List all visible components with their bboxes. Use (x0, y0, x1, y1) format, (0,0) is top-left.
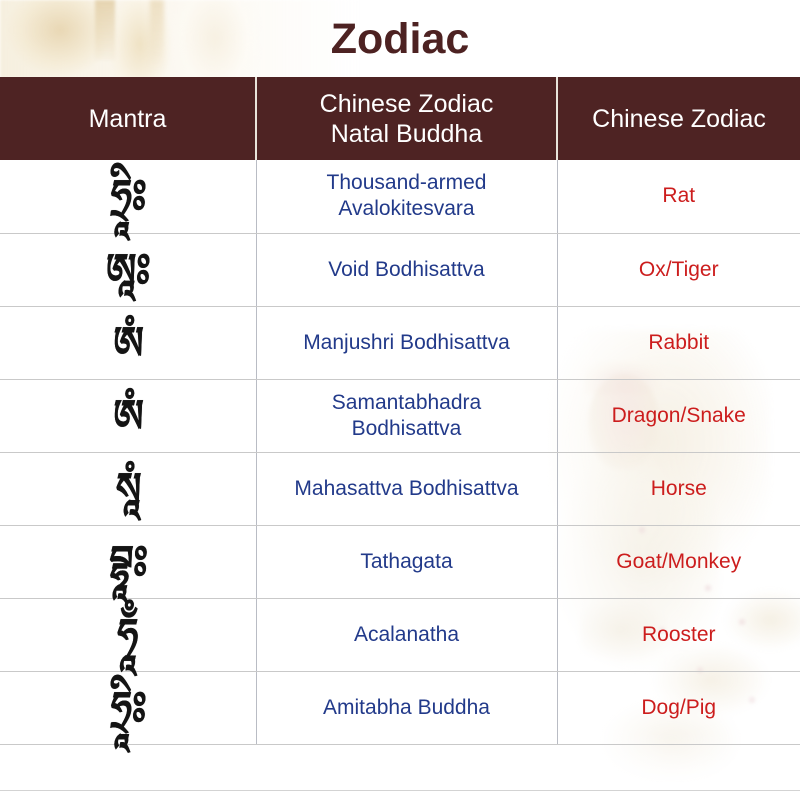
chinese-zodiac-label: Dragon/Snake (612, 404, 746, 427)
cell-mantra: ཧྲཱིཿ (0, 671, 256, 744)
page-title: Zodiac (0, 12, 800, 66)
sheet-bottom-rule (0, 790, 800, 791)
cell-natal-buddha: Mahasattva Bodhisattva (256, 452, 557, 525)
column-header-natal-buddha: Chinese Zodiac Natal Buddha (256, 77, 557, 160)
cell-chinese-zodiac: Ox/Tiger (557, 233, 800, 306)
cell-chinese-zodiac: Horse (557, 452, 800, 525)
cell-natal-buddha: Amitabha Buddha (256, 671, 557, 744)
table-header: Mantra Chinese Zodiac Natal Buddha Chine… (0, 77, 800, 160)
natal-buddha-line1: Tathagata (360, 550, 452, 573)
chinese-zodiac-label: Dog/Pig (641, 696, 716, 719)
column-header-mantra-label: Mantra (89, 105, 167, 133)
cell-natal-buddha: Manjushri Bodhisattva (256, 306, 557, 379)
natal-buddha-line1: Samantabhadra (332, 391, 481, 414)
table-row: ཨཱཿVoid BodhisattvaOx/Tiger (0, 233, 800, 306)
cell-chinese-zodiac: Dog/Pig (557, 671, 800, 744)
seed-syllable-aam-icon: ཨཾ (112, 386, 144, 446)
seed-syllable-ham-icon: ཧཱྃ (116, 605, 139, 665)
zodiac-sheet: Zodiac Mantra Chinese Zodiac Natal Buddh… (0, 0, 800, 800)
natal-buddha-line2: Avalokitesvara (338, 197, 474, 220)
seed-syllable-bhah-icon: བྷཱཿ (108, 532, 148, 592)
column-header-mantra: Mantra (0, 77, 256, 160)
table-row: ཧྲཱིཿThousand-armedAvalokitesvaraRat (0, 160, 800, 233)
column-header-chinese-zodiac: Chinese Zodiac (557, 77, 800, 160)
cell-natal-buddha: Thousand-armedAvalokitesvara (256, 160, 557, 233)
column-header-natal-buddha-line1: Chinese Zodiac (320, 90, 494, 118)
seed-syllable-hrih-icon: ཧྲཱིཿ (109, 166, 146, 226)
chinese-zodiac-label: Rat (662, 184, 695, 207)
table-header-row: Mantra Chinese Zodiac Natal Buddha Chine… (0, 77, 800, 160)
table-row: ཧཱྃAcalanathaRooster (0, 598, 800, 671)
natal-buddha-line1: Mahasattva Bodhisattva (294, 477, 518, 500)
chinese-zodiac-label: Rooster (642, 623, 716, 646)
seed-syllable-hrih-icon: ཧྲཱིཿ (109, 678, 146, 738)
cell-chinese-zodiac: Rooster (557, 598, 800, 671)
cell-mantra: ཨཾ (0, 306, 256, 379)
cell-natal-buddha: Tathagata (256, 525, 557, 598)
table-row: སཱཾMahasattva BodhisattvaHorse (0, 452, 800, 525)
cell-mantra: ཨཱཿ (0, 233, 256, 306)
seed-syllable-ah-icon: ཨཱཿ (105, 240, 151, 300)
natal-buddha-line1: Thousand-armed (327, 171, 487, 194)
cell-natal-buddha: Void Bodhisattva (256, 233, 557, 306)
natal-buddha-line1: Manjushri Bodhisattva (303, 331, 510, 354)
cell-natal-buddha: SamantabhadraBodhisattva (256, 379, 557, 452)
chinese-zodiac-label: Goat/Monkey (616, 550, 741, 573)
cell-mantra: ཧཱྃ (0, 598, 256, 671)
column-header-natal-buddha-line2: Natal Buddha (331, 120, 483, 148)
zodiac-table: Mantra Chinese Zodiac Natal Buddha Chine… (0, 77, 800, 745)
cell-mantra: བྷཱཿ (0, 525, 256, 598)
seed-syllable-am-icon: ཨཾ (112, 313, 144, 373)
cell-chinese-zodiac: Rabbit (557, 306, 800, 379)
table-row: ཨཾManjushri BodhisattvaRabbit (0, 306, 800, 379)
cell-chinese-zodiac: Rat (557, 160, 800, 233)
column-header-chinese-zodiac-label: Chinese Zodiac (592, 105, 766, 133)
table-row: ཧྲཱིཿAmitabha BuddhaDog/Pig (0, 671, 800, 744)
chinese-zodiac-label: Ox/Tiger (639, 258, 719, 281)
natal-buddha-line1: Amitabha Buddha (323, 696, 490, 719)
table-body: ཧྲཱིཿThousand-armedAvalokitesvaraRatཨཱཿV… (0, 160, 800, 744)
natal-buddha-line2: Bodhisattva (352, 417, 462, 440)
cell-mantra: ཧྲཱིཿ (0, 160, 256, 233)
cell-mantra: སཱཾ (0, 452, 256, 525)
natal-buddha-line1: Acalanatha (354, 623, 459, 646)
table-row: ཨཾSamantabhadraBodhisattvaDragon/Snake (0, 379, 800, 452)
cell-chinese-zodiac: Goat/Monkey (557, 525, 800, 598)
table-row: བྷཱཿTathagataGoat/Monkey (0, 525, 800, 598)
chinese-zodiac-label: Rabbit (648, 331, 709, 354)
cell-chinese-zodiac: Dragon/Snake (557, 379, 800, 452)
cell-natal-buddha: Acalanatha (256, 598, 557, 671)
seed-syllable-sam-icon: སཱཾ (114, 459, 141, 519)
natal-buddha-line1: Void Bodhisattva (328, 258, 484, 281)
cell-mantra: ཨཾ (0, 379, 256, 452)
chinese-zodiac-label: Horse (651, 477, 707, 500)
